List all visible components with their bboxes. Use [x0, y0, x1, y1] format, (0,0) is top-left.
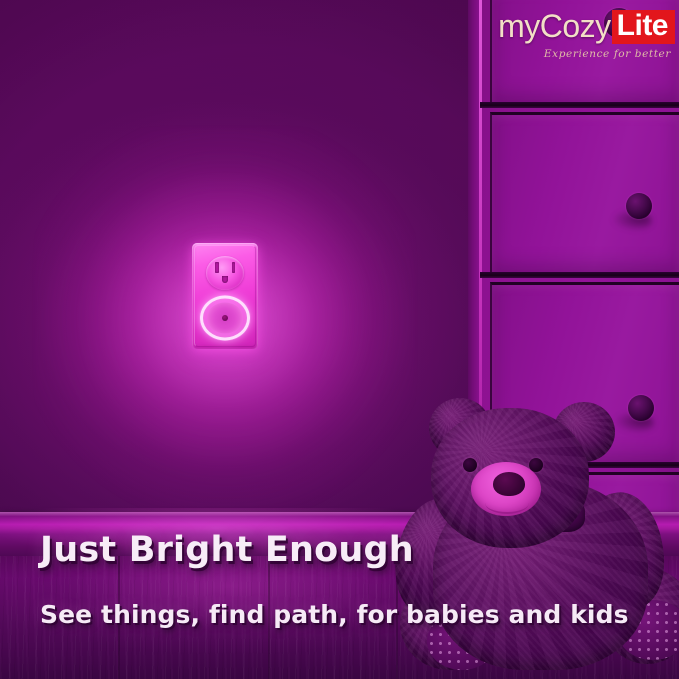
- product-lifestyle-image: myCozy Lite Experience for better: [0, 0, 679, 679]
- drawer-seam: [480, 272, 679, 278]
- table-row: [490, 112, 679, 275]
- bear-eye-left: [463, 458, 477, 472]
- page-subtitle: See things, find path, for babies and ki…: [40, 600, 629, 629]
- socket-slot-right: [232, 262, 236, 273]
- teddy-bear: [405, 380, 679, 679]
- page-title: Just Bright Enough: [40, 530, 414, 570]
- brand-name-accent: Lite: [612, 10, 675, 44]
- socket-slot-left: [215, 262, 219, 273]
- night-light-ring[interactable]: [199, 295, 251, 341]
- brand-name-primary: myCozy: [498, 8, 611, 45]
- drawer-knob[interactable]: [626, 193, 652, 219]
- wall-outlet-plate: [192, 243, 258, 349]
- brand-logo-wordmark: myCozy Lite: [505, 8, 675, 45]
- brand-logo: myCozy Lite Experience for better: [505, 8, 675, 62]
- bear-mouth: [485, 492, 529, 514]
- socket-ground-hole: [222, 276, 228, 283]
- night-light-sensor: [222, 315, 228, 321]
- electrical-socket: [206, 256, 244, 290]
- drawer-seam: [480, 102, 679, 108]
- brand-tagline: Experience for better: [505, 48, 675, 60]
